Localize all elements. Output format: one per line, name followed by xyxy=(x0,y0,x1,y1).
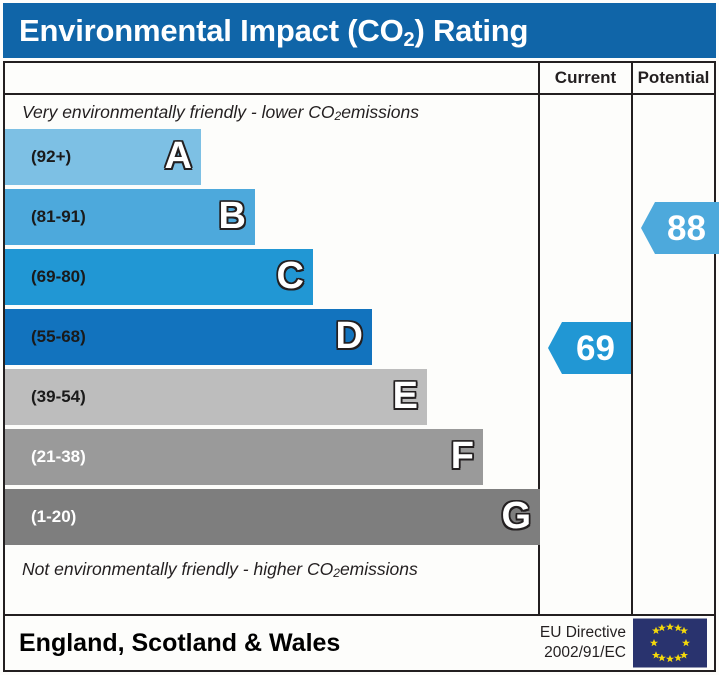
rating-bands: (92+) A (81-91) B (69-80) C (55-68) D (3… xyxy=(5,129,538,552)
band-g-range: (1-20) xyxy=(5,507,76,527)
caption-not-friendly: Not environmentally friendly - higher CO… xyxy=(5,552,538,586)
column-header-current: Current xyxy=(538,63,631,93)
column-header-row: Current Potential xyxy=(5,63,714,95)
caption-bottom-suffix: emissions xyxy=(340,559,418,580)
band-f-range: (21-38) xyxy=(5,447,86,467)
caption-top-subscript: 2 xyxy=(335,109,342,123)
potential-rating-marker: 88 xyxy=(641,202,719,254)
band-a: (92+) A xyxy=(5,129,201,185)
eu-directive-line2: 2002/91/EC xyxy=(540,643,626,663)
band-f-letter: F xyxy=(451,437,474,475)
band-g: (1-20) G xyxy=(5,489,540,545)
band-d: (55-68) D xyxy=(5,309,372,365)
band-a-range: (92+) xyxy=(5,147,71,167)
chart-footer: England, Scotland & Wales EU Directive 2… xyxy=(3,616,716,672)
band-g-letter: G xyxy=(501,497,531,535)
band-c-letter: C xyxy=(277,257,304,295)
page-title-subscript: 2 xyxy=(404,29,415,51)
eu-flag-icon xyxy=(633,619,707,668)
band-b: (81-91) B xyxy=(5,189,255,245)
page-title-prefix: Environmental Impact (CO xyxy=(19,13,404,48)
chart-title-bar: Environmental Impact (CO2) Rating xyxy=(3,3,716,58)
band-e-range: (39-54) xyxy=(5,387,86,407)
potential-rating-value: 88 xyxy=(667,211,706,246)
band-e: (39-54) E xyxy=(5,369,427,425)
footer-region-label: England, Scotland & Wales xyxy=(5,629,340,658)
band-e-letter: E xyxy=(393,377,418,415)
caption-very-friendly: Very environmentally friendly - lower CO… xyxy=(5,95,538,129)
band-d-range: (55-68) xyxy=(5,327,86,347)
current-rating-value: 69 xyxy=(576,331,615,366)
eu-directive-label: EU Directive 2002/91/EC xyxy=(540,623,626,663)
page-title: Environmental Impact (CO2) Rating xyxy=(3,13,528,49)
band-b-range: (81-91) xyxy=(5,207,86,227)
band-d-letter: D xyxy=(336,317,363,355)
band-c: (69-80) C xyxy=(5,249,313,305)
caption-top-prefix: Very environmentally friendly - lower CO xyxy=(22,102,335,123)
current-rating-marker: 69 xyxy=(548,322,631,374)
band-b-letter: B xyxy=(219,197,246,235)
caption-bottom-subscript: 2 xyxy=(333,566,340,580)
caption-top-suffix: emissions xyxy=(341,102,419,123)
band-c-range: (69-80) xyxy=(5,267,86,287)
band-f: (21-38) F xyxy=(5,429,483,485)
epc-environmental-impact-chart: Environmental Impact (CO2) Rating Curren… xyxy=(0,0,719,675)
eu-directive-line1: EU Directive xyxy=(540,623,626,643)
page-title-suffix: ) Rating xyxy=(414,13,528,48)
chart-frame: Current Potential Very environmentally f… xyxy=(3,61,716,616)
column-header-potential: Potential xyxy=(631,63,714,93)
caption-bottom-prefix: Not environmentally friendly - higher CO xyxy=(22,559,333,580)
column-divider-potential xyxy=(631,95,633,614)
band-a-letter: A xyxy=(165,137,192,175)
